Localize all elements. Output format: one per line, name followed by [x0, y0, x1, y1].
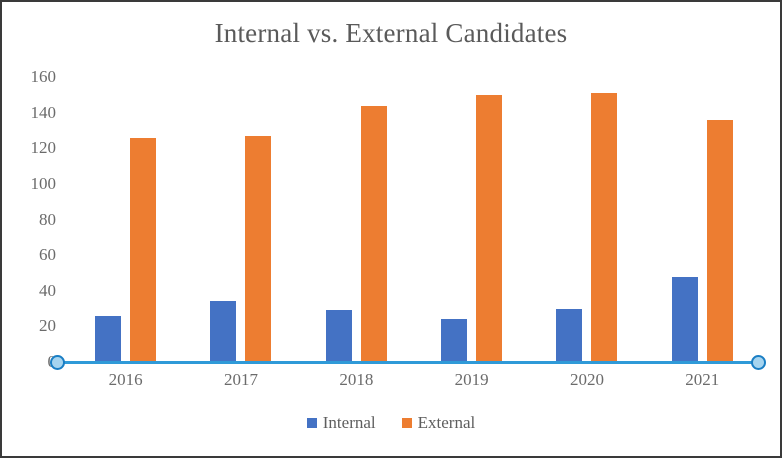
x-axis-tick-label: 2018: [299, 370, 414, 390]
legend-label: External: [418, 414, 476, 431]
chart-container: Internal vs. External Candidates 1601401…: [0, 0, 782, 458]
bar-group: [645, 72, 760, 362]
legend-swatch-icon: [307, 418, 317, 428]
x-axis-tick-label: 2021: [645, 370, 760, 390]
legend-label: Internal: [323, 414, 376, 431]
bar-internal-2016[interactable]: [95, 316, 121, 362]
category-axis-line[interactable]: [54, 361, 759, 364]
bar-external-2018[interactable]: [361, 106, 387, 363]
axis-handle-right-icon[interactable]: [751, 355, 766, 370]
y-axis-tick-label: 40: [39, 281, 56, 301]
chart-legend: InternalExternal: [2, 414, 780, 431]
bar-internal-2019[interactable]: [441, 319, 467, 362]
bar-group: [299, 72, 414, 362]
x-axis-tick-label: 2017: [183, 370, 298, 390]
x-axis-tick-label: 2016: [68, 370, 183, 390]
bar-internal-2018[interactable]: [326, 310, 352, 362]
legend-swatch-icon: [402, 418, 412, 428]
bar-group: [414, 72, 529, 362]
bar-group: [68, 72, 183, 362]
bar-group: [529, 72, 644, 362]
y-axis-tick-label: 60: [39, 245, 56, 265]
bar-external-2019[interactable]: [476, 95, 502, 362]
x-axis-labels: 201620172018201920202021: [68, 370, 760, 390]
legend-item-external[interactable]: External: [402, 414, 476, 431]
y-axis-tick-label: 80: [39, 210, 56, 230]
bar-external-2020[interactable]: [591, 93, 617, 362]
y-axis: 160140120100806040200: [2, 2, 68, 458]
y-axis-tick-label: 20: [39, 316, 56, 336]
bar-internal-2021[interactable]: [672, 277, 698, 363]
bar-external-2016[interactable]: [130, 138, 156, 362]
x-axis-tick-label: 2020: [529, 370, 644, 390]
y-axis-tick-label: 160: [31, 67, 57, 87]
bar-group: [183, 72, 298, 362]
legend-item-internal[interactable]: Internal: [307, 414, 376, 431]
bar-external-2021[interactable]: [707, 120, 733, 362]
bar-internal-2020[interactable]: [556, 309, 582, 362]
chart-title: Internal vs. External Candidates: [2, 18, 780, 49]
bar-external-2017[interactable]: [245, 136, 271, 362]
bar-groups: [68, 72, 760, 362]
y-axis-tick-label: 140: [31, 103, 57, 123]
y-axis-tick-label: 100: [31, 174, 57, 194]
axis-handle-left-icon[interactable]: [50, 355, 65, 370]
y-axis-tick-label: 120: [31, 138, 57, 158]
x-axis-tick-label: 2019: [414, 370, 529, 390]
bar-internal-2017[interactable]: [210, 301, 236, 362]
